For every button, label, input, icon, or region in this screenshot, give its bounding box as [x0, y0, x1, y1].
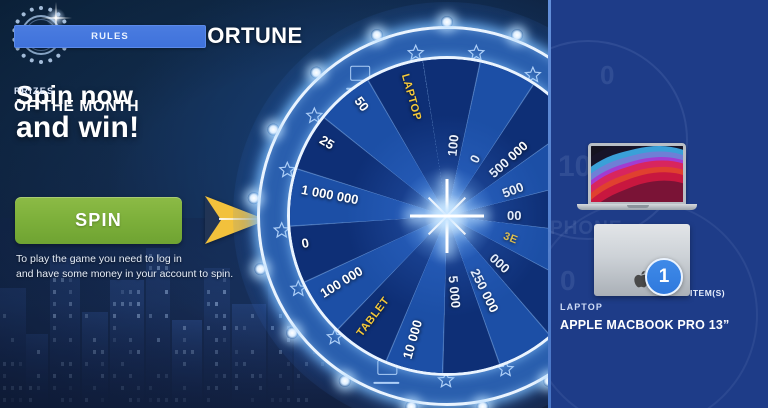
disclaimer-line-1: To play the game you need to log in — [16, 252, 266, 267]
wheel-segment-label: 5 000 — [446, 275, 464, 309]
login-disclaimer: To play the game you need to log in and … — [16, 252, 266, 282]
hero-line-2: and win! — [16, 111, 139, 144]
sidebar-edge-divider — [548, 0, 551, 408]
bulb-light — [441, 16, 453, 28]
disclaimer-line-2: and have some money in your account to s… — [16, 267, 266, 282]
item-count-label: ITEM(S) — [690, 288, 725, 298]
spin-button[interactable]: SPIN — [15, 197, 182, 244]
wheel-of-fortune-page: WHEEL OF FORTUNE Spin now and win! SPIN … — [0, 0, 768, 408]
wheel-segment-label: 100 — [445, 134, 462, 157]
prizes-kicker: PRIZES — [14, 86, 54, 96]
prize-category: LAPTOP — [560, 302, 603, 312]
rules-button[interactable]: RULES — [14, 25, 206, 48]
prize-name: APPLE MACBOOK PRO 13” — [560, 318, 730, 332]
wheel-segment-label: 00 — [507, 208, 521, 223]
item-count-badge: 1 — [645, 258, 683, 296]
macbook-open-image — [583, 143, 691, 215]
prizes-title: OF THE MONTH — [14, 98, 139, 116]
